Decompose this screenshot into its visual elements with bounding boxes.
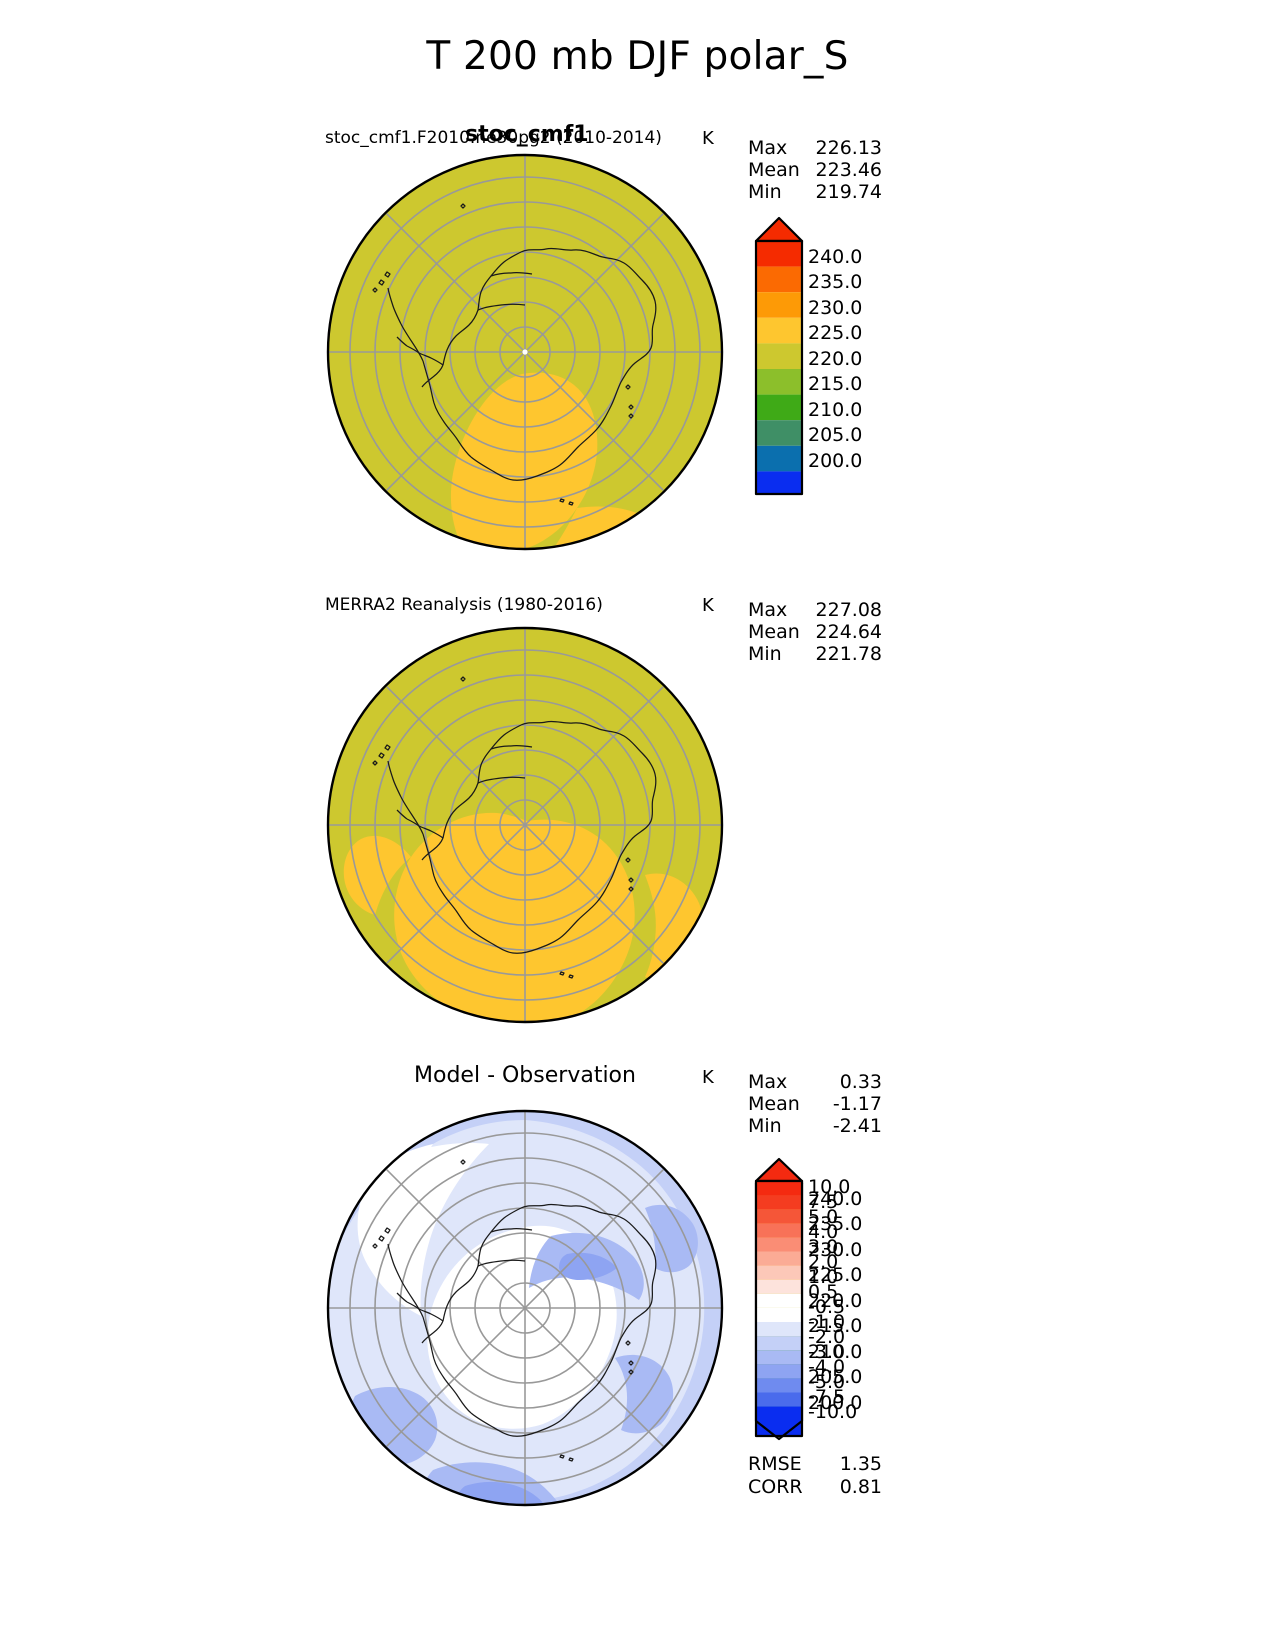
cb-tick: 220.0 [808,348,862,370]
colorbar-difference [752,1156,806,1441]
cb-tick: 205.0 [808,424,862,446]
cb-tick: 210.0 [808,399,862,421]
stat-label: Min [748,643,810,665]
panel-observation-stats: Max227.08 Mean224.64 Min221.78 [748,599,882,665]
panel-difference-footer-stats: RMSE1.35 CORR0.81 [748,1453,882,1499]
stat-value: -1.17 [810,1093,882,1115]
stat-value: 224.64 [810,621,882,643]
stat-value: 226.13 [810,137,882,159]
panel-model-stats: Max226.13 Mean223.46 Min219.74 [748,137,882,203]
cb-tick: 240.0 [808,246,862,268]
panel-model-unit: K [702,128,714,149]
panel-observation-unit: K [702,595,714,616]
stat-value: 227.08 [810,599,882,621]
cb-tick: -10.0 [808,1401,857,1423]
polar-map-difference [315,1108,735,1508]
colorbar-model [752,215,806,497]
stat-label: Max [748,1071,810,1093]
polar-map-observation [315,625,735,1025]
footer-stat-label: RMSE [748,1453,820,1476]
stat-label: Mean [748,1093,810,1115]
stat-value: 0.33 [810,1071,882,1093]
stat-value: -2.41 [810,1115,882,1137]
footer-stat-value: 0.81 [820,1476,882,1499]
panel-difference-title: Model - Observation [315,1063,735,1088]
panel-model-center-title: stoc_cmf1 [465,122,589,147]
panel-observation-left-title: MERRA2 Reanalysis (1980-2016) [325,595,603,615]
cb-tick: 225.0 [808,322,862,344]
stat-label: Mean [748,621,810,643]
stat-label: Min [748,181,810,203]
stat-value: 219.74 [810,181,882,203]
cb-tick: 215.0 [808,373,862,395]
panel-difference-unit: K [702,1067,714,1088]
colorbar-model-labels: 240.0 235.0 230.0 225.0 220.0 215.0 210.… [808,215,898,497]
stat-label: Max [748,599,810,621]
cb-tick: 200.0 [808,450,862,472]
panel-difference-stats: Max0.33 Mean-1.17 Min-2.41 [748,1071,882,1137]
stat-label: Min [748,1115,810,1137]
stat-value: 221.78 [810,643,882,665]
figure-canvas: T 200 mb DJF polar_S stoc_cmf1.F2010.ne3… [0,0,1275,1650]
page-title: T 200 mb DJF polar_S [0,34,1275,79]
stat-value: 223.46 [810,159,882,181]
footer-stat-label: CORR [748,1476,820,1499]
footer-stat-value: 1.35 [820,1453,882,1476]
colorbar-difference-labels: 10.0 7.5 5.0 4.0 3.0 2.0 1.0 0.5 -0.5 -1… [808,1156,898,1441]
cb-tick: 235.0 [808,271,862,293]
cb-tick: 230.0 [808,297,862,319]
polar-map-model [315,152,735,552]
stat-label: Max [748,137,810,159]
stat-label: Mean [748,159,810,181]
